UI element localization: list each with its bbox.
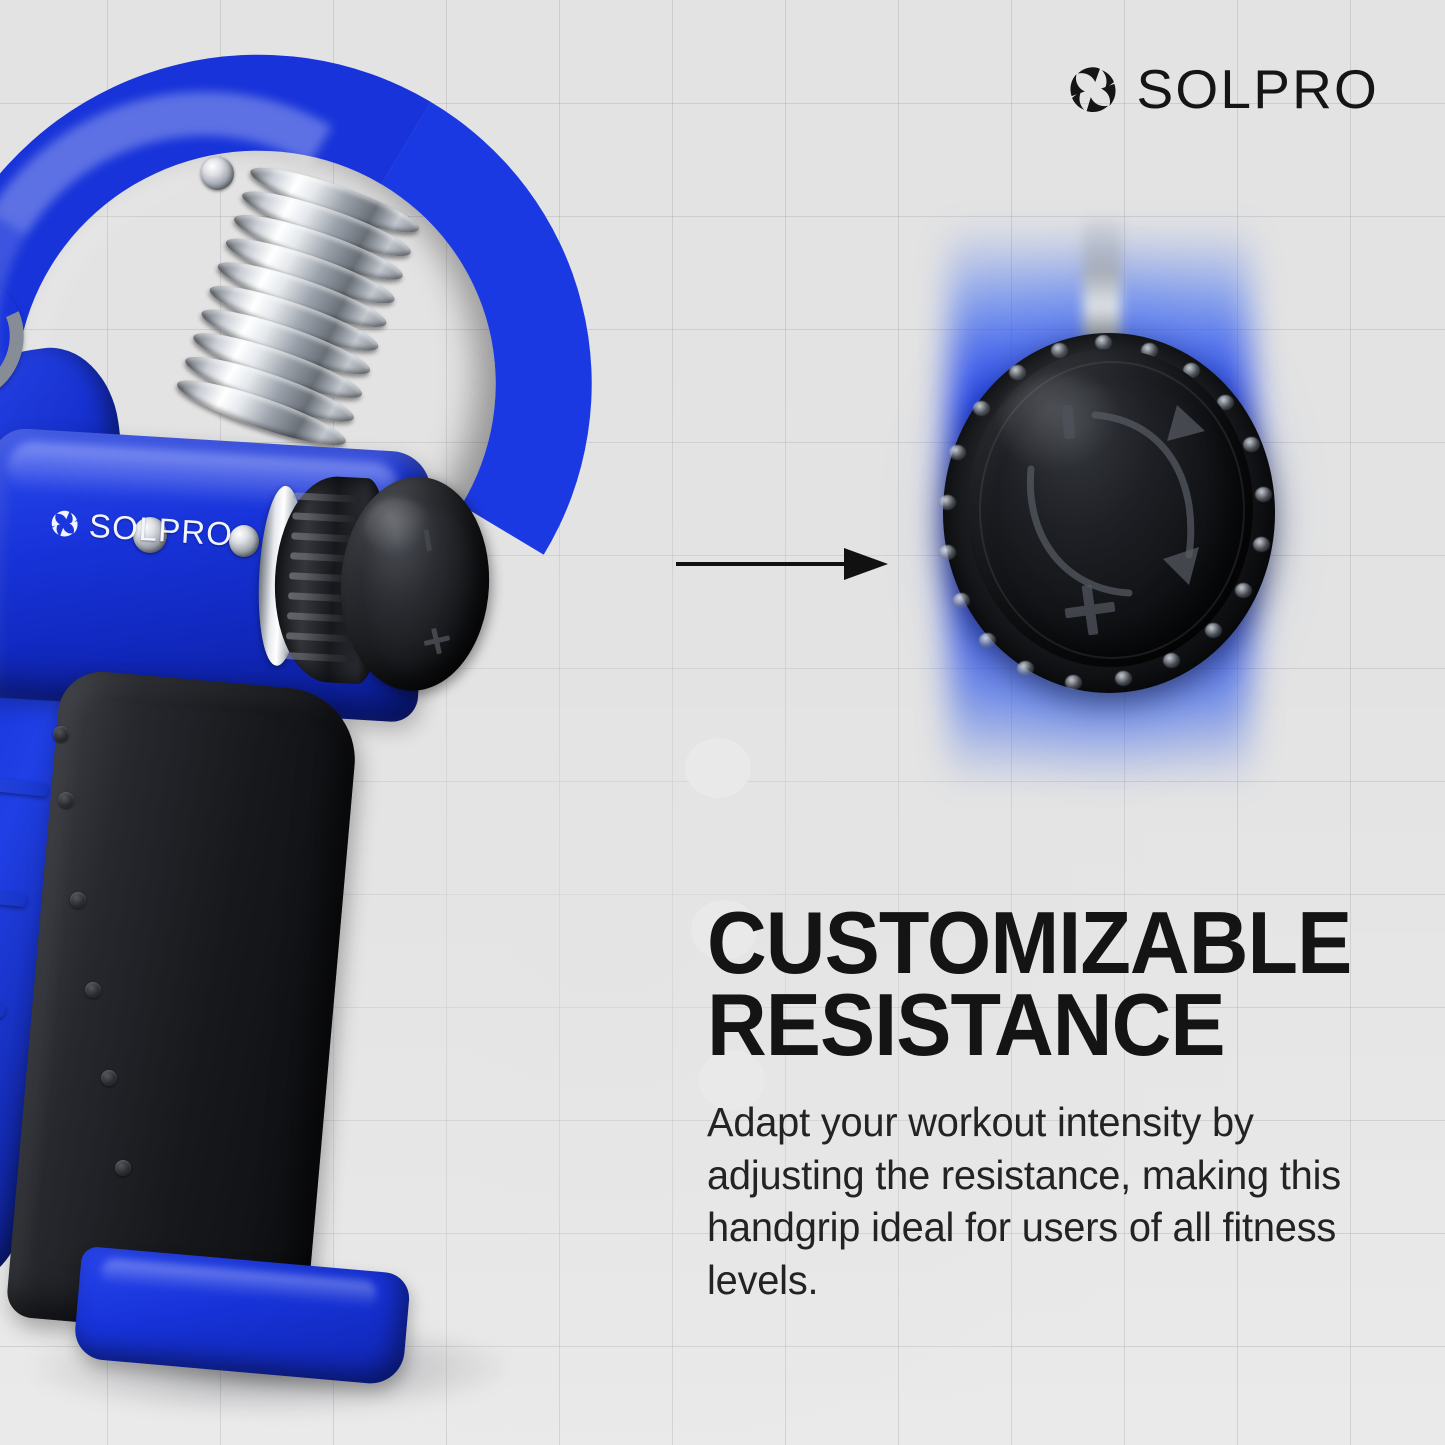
resistance-adjustment-knob — [270, 470, 491, 696]
product-rivet — [201, 157, 234, 190]
knob-rotation-arrows-icon — [967, 349, 1253, 667]
product-rubber-grip — [5, 668, 361, 1342]
aperture-shutter-icon — [48, 507, 81, 540]
product-image: SOLPRO — [0, 20, 735, 1420]
product-body-logo-text: SOLPRO — [88, 509, 234, 551]
brand-name: SOLPRO — [1137, 62, 1379, 117]
grip-dimple — [115, 1160, 131, 1176]
grip-dimple — [70, 892, 86, 908]
magnified-knob-callout — [905, 215, 1365, 825]
grip-dimple — [58, 792, 74, 808]
brand-logo: SOLPRO — [1066, 62, 1379, 117]
copy-block: CUSTOMIZABLE RESISTANCE Adapt your worko… — [707, 902, 1387, 1307]
grip-finger-notch — [685, 738, 751, 798]
grip-dimple — [101, 1070, 117, 1086]
callout-arrow — [676, 545, 891, 583]
product-marketing-image: SOLPRO — [0, 0, 1445, 1445]
aperture-shutter-icon — [1066, 63, 1120, 117]
callout-spring-stem-blur — [1083, 215, 1121, 345]
grip-dimple — [85, 982, 101, 998]
page-title: CUSTOMIZABLE RESISTANCE — [707, 902, 1346, 1066]
grip-dimple — [53, 726, 69, 742]
body-copy: Adapt your workout intensity by adjustin… — [707, 1096, 1367, 1308]
product-rivet — [229, 525, 259, 557]
